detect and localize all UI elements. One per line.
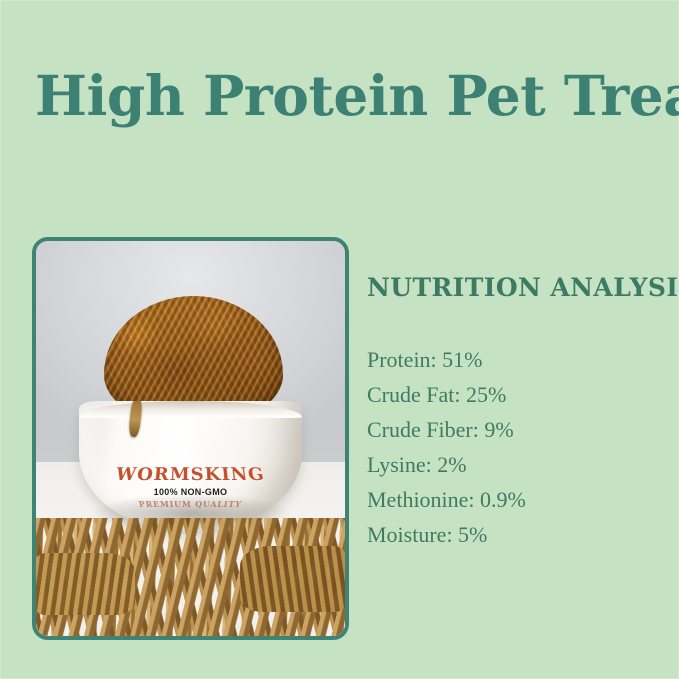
nutrition-heading: NUTRITION ANALYSIS xyxy=(367,273,667,302)
nutrition-item-methionine: Methionine: 0.9% xyxy=(367,482,667,517)
nutrition-item-moisture: Moisture: 5% xyxy=(367,517,667,552)
nutrition-item-protein: Protein: 51% xyxy=(367,342,667,377)
scattered-mealworms-left xyxy=(36,553,135,615)
bowl-rim xyxy=(79,401,301,418)
nutrition-item-crude-fiber: Crude Fiber: 9% xyxy=(367,412,667,447)
brand-name: WORMSKING xyxy=(79,464,301,485)
nutrition-panel: NUTRITION ANALYSIS Protein: 51% Crude Fa… xyxy=(367,273,667,552)
nutrition-list: Protein: 51% Crude Fat: 25% Crude Fiber:… xyxy=(367,342,667,552)
product-photo-frame: WORMSKING 100% NON-GMO PREMIUM QUALITY xyxy=(32,237,349,640)
nutrition-item-lysine: Lysine: 2% xyxy=(367,447,667,482)
page-title: High Protein Pet Treats xyxy=(35,65,665,127)
product-photo: WORMSKING 100% NON-GMO PREMIUM QUALITY xyxy=(36,241,345,636)
nutrition-item-crude-fat: Crude Fat: 25% xyxy=(367,377,667,412)
scattered-mealworms-right xyxy=(240,546,345,612)
scattered-mealworms xyxy=(36,518,345,637)
mealworm-over-rim xyxy=(128,401,143,438)
product-infographic: High Protein Pet Treats WORMSKING 100% N… xyxy=(0,0,679,679)
